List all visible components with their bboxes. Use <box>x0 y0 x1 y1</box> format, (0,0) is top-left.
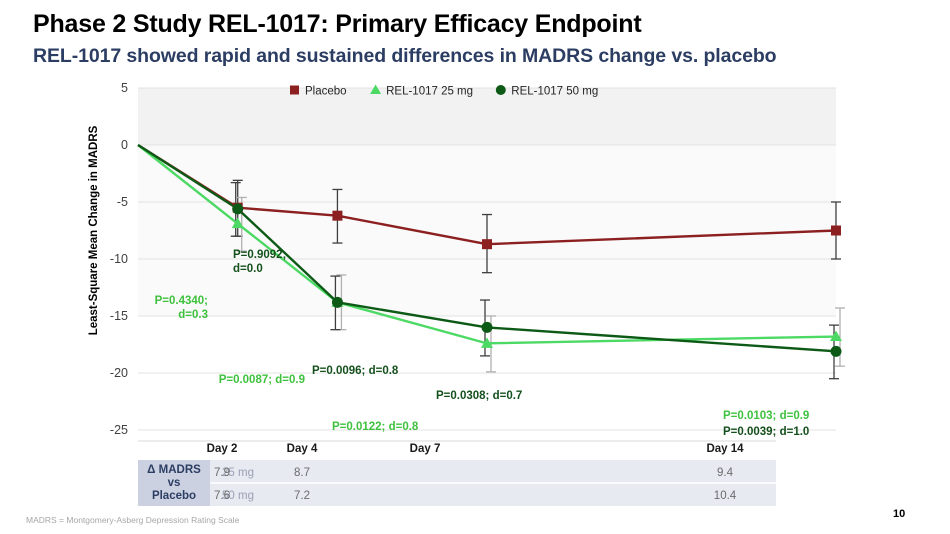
table-cell-value: 7.2 <box>294 490 310 502</box>
table-column-header: Day 14 <box>706 443 744 455</box>
y-axis-tick-label: -20 <box>110 366 128 380</box>
data-point-rel-1017-50-mg-day4 <box>332 297 343 308</box>
y-axis-tick-label: 0 <box>121 138 128 152</box>
legend-label: REL-1017 50 mg <box>511 86 598 98</box>
ann-50mg-day2: P=0.9092; <box>233 249 286 261</box>
legend-label: REL-1017 25 mg <box>386 86 473 98</box>
data-point-placebo-day14 <box>831 226 841 236</box>
table-cell-value: 9.4 <box>717 467 734 479</box>
ann-50mg-day4: P=0.0096; d=0.8 <box>312 365 399 377</box>
ann-50mg-day2-line2: d=0.0 <box>233 263 263 275</box>
footnote: MADRS = Montgomery-Asberg Depression Rat… <box>26 515 239 525</box>
y-axis-title: Least-Square Mean Change in MADRS <box>88 125 100 335</box>
table-column-header: Day 2 <box>207 443 238 455</box>
ann-25mg-day2-line2: d=0.3 <box>178 309 208 321</box>
ann-25mg-day14: P=0.0103; d=0.9 <box>723 410 809 422</box>
madrs-line-chart: 50-5-10-15-20-25 Least-Square Mean Chang… <box>0 78 950 508</box>
y-axis-ticks: 50-5-10-15-20-25 <box>110 81 128 437</box>
page-number: 10 <box>893 508 905 520</box>
y-axis-tick-label: -5 <box>117 195 128 209</box>
table-row-label-line: Placebo <box>152 490 196 502</box>
legend-label: Placebo <box>305 86 347 98</box>
data-point-placebo-day4 <box>332 211 342 221</box>
page-title: Phase 2 Study REL-1017: Primary Efficacy… <box>33 10 641 39</box>
ann-50mg-day14: P=0.0039; d=1.0 <box>723 426 809 438</box>
ann-25mg-day2: P=0.4340; <box>155 295 208 307</box>
page-subtitle: REL-1017 showed rapid and sustained diff… <box>33 45 776 68</box>
table-cell-value: 7.6 <box>214 490 230 502</box>
data-point-rel-1017-50-mg-day14 <box>831 346 842 357</box>
plot-upper-band <box>138 88 836 145</box>
table-cell-value: 10.4 <box>714 490 737 502</box>
table-column-header: Day 7 <box>410 443 441 455</box>
legend-marker-square-icon <box>290 86 299 95</box>
y-axis-tick-label: -25 <box>110 423 128 437</box>
data-point-rel-1017-50-mg-day2 <box>232 203 243 214</box>
y-axis-tick-label: -10 <box>110 252 128 266</box>
y-axis-title: Least-Square Mean Change in MADRS <box>88 125 100 335</box>
delta-madrs-table: Day 2Day 4Day 7Day 14Δ MADRSvsPlacebo25 … <box>138 441 776 506</box>
table-cell-value: 7.9 <box>214 467 230 479</box>
y-axis-tick-label: -15 <box>110 309 128 323</box>
data-point-rel-1017-50-mg-day7 <box>482 322 493 333</box>
chart-container: 50-5-10-15-20-25 Least-Square Mean Chang… <box>0 78 950 508</box>
data-point-placebo-day7 <box>482 239 492 249</box>
table-column-header: Day 4 <box>287 443 318 455</box>
y-axis-tick-label: 5 <box>121 81 128 95</box>
ann-25mg-day4: P=0.0087; d=0.9 <box>219 374 305 386</box>
table-row-label-line: Δ MADRS <box>147 464 201 476</box>
table-cell-value: 8.7 <box>294 467 310 479</box>
chart-legend: PlaceboREL-1017 25 mgREL-1017 50 mg <box>290 85 598 98</box>
table-row-label-line: vs <box>168 477 181 489</box>
slide-root: Phase 2 Study REL-1017: Primary Efficacy… <box>0 0 950 534</box>
ann-50mg-day7: P=0.0308; d=0.7 <box>436 390 522 402</box>
ann-25mg-day7: P=0.0122; d=0.8 <box>332 421 419 433</box>
legend-marker-circle-icon <box>496 85 506 95</box>
